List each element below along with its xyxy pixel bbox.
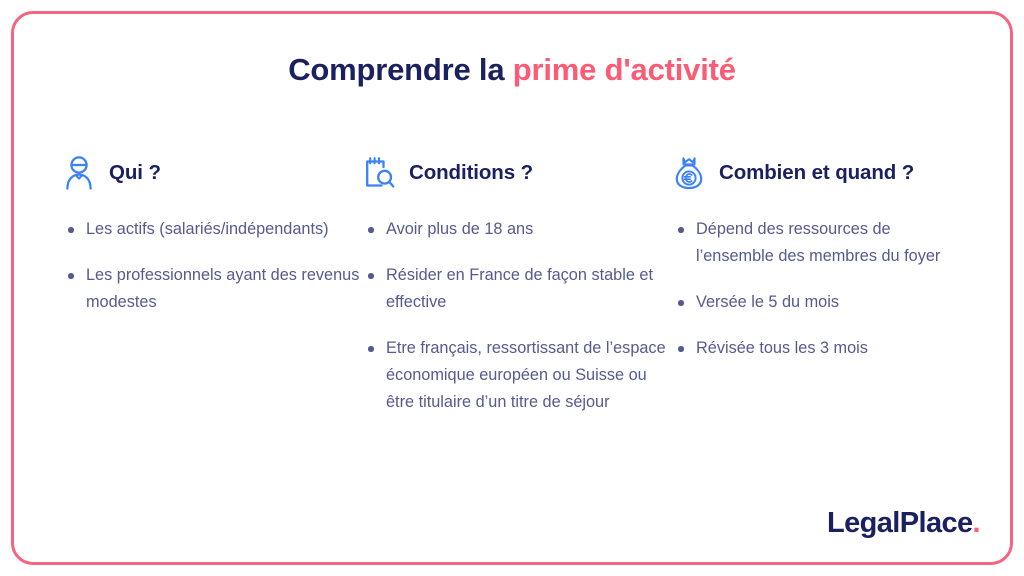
list-item: Versée le 5 du mois [672,289,972,316]
column-header-qui: Qui ? [62,152,362,194]
money-bag-euro-icon [672,154,706,192]
columns-container: Qui ? Les actifs (salariés/indépendants)… [62,152,972,416]
column-qui: Qui ? Les actifs (salariés/indépendants)… [62,152,362,316]
column-title-qui: Qui ? [109,161,161,185]
column-combien-quand: Combien et quand ? Dépend des ressources… [672,152,972,362]
list-item: Résider en France de façon stable et eff… [362,262,672,316]
bullet-list-combien-quand: Dépend des ressources de l’ensemble des … [672,216,972,362]
column-header-conditions: Conditions ? [362,152,672,194]
legalplace-logo: LegalPlace. [827,507,980,540]
page-title-part1: Comprendre la [288,52,513,87]
column-title-combien-quand: Combien et quand ? [719,161,914,185]
column-title-conditions: Conditions ? [409,161,533,185]
logo-name: LegalPlace [827,507,973,539]
notepad-search-icon [362,154,396,192]
list-item: Etre français, ressortissant de l’espace… [362,335,672,416]
list-item: Les professionnels ayant des revenus mod… [62,262,362,316]
page-title: Comprendre la prime d'activité [0,52,1024,88]
column-header-combien-quand: Combien et quand ? [672,152,972,194]
list-item: Révisée tous les 3 mois [672,335,972,362]
list-item: Avoir plus de 18 ans [362,216,672,243]
bullet-list-conditions: Avoir plus de 18 ans Résider en France d… [362,216,672,416]
bullet-list-qui: Les actifs (salariés/indépendants) Les p… [62,216,362,316]
column-conditions: Conditions ? Avoir plus de 18 ans Réside… [362,152,672,416]
page-title-accent: prime d'activité [513,52,736,87]
list-item: Les actifs (salariés/indépendants) [62,216,362,243]
logo-dot: . [973,507,980,539]
list-item: Dépend des ressources de l’ensemble des … [672,216,972,270]
person-icon [62,154,96,192]
